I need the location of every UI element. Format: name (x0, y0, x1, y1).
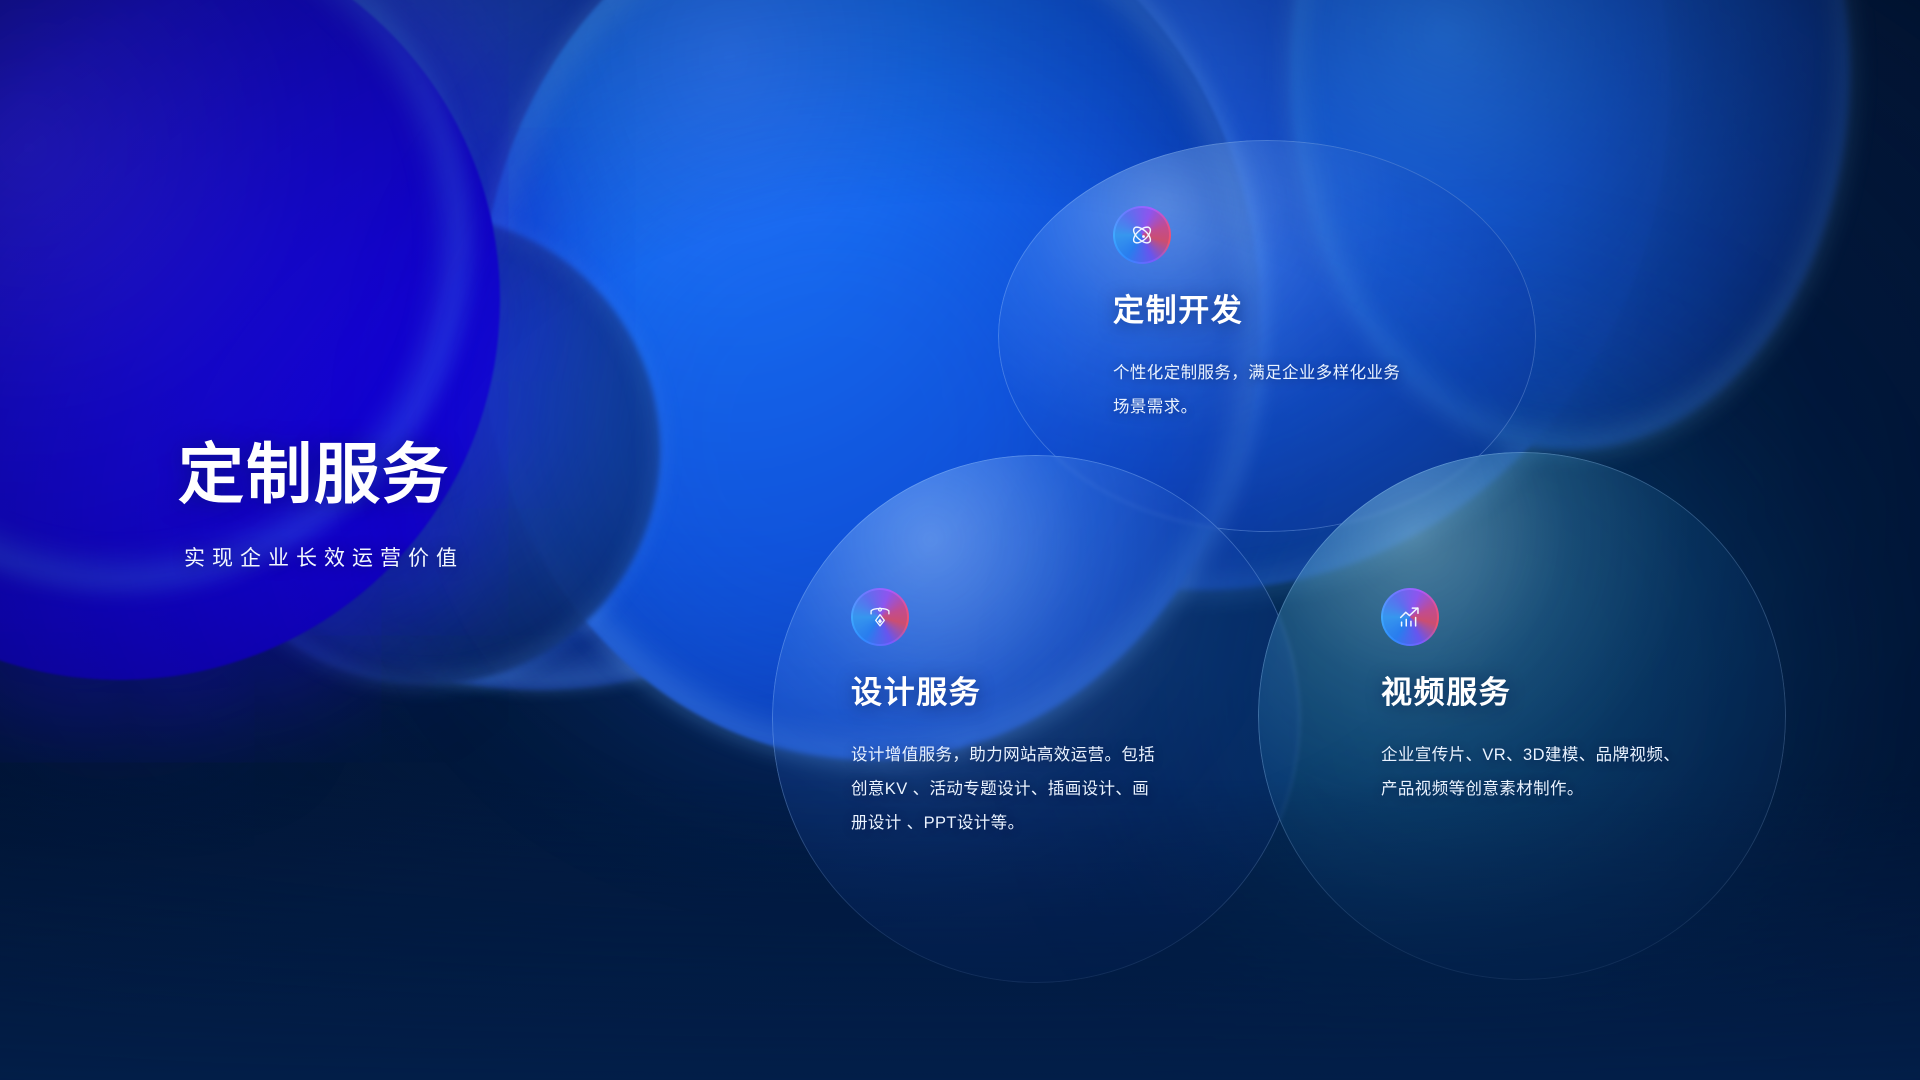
service-card-design-service[interactable]: 设计服务 设计增值服务，助力网站高效运营。包括创意KV 、活动专题设计、插画设计… (851, 588, 1171, 841)
page-subtitle: 实现企业长效运营价值 (184, 542, 738, 572)
card-title: 视频服务 (1381, 674, 1701, 711)
hero-text-block: 定制服务 实现企业长效运营价值 (178, 438, 738, 572)
card-description: 企业宣传片、VR、3D建模、品牌视频、产品视频等创意素材制作。 (1381, 739, 1681, 807)
hero-section: 定制服务 实现企业长效运营价值 定制开发 个性化定制服务，满足企业多样化业务场景… (0, 0, 1920, 1080)
growth-chart-icon (1381, 588, 1439, 646)
card-description: 个性化定制服务，满足企业多样化业务场景需求。 (1113, 357, 1413, 425)
card-title: 定制开发 (1113, 292, 1433, 329)
service-card-custom-development[interactable]: 定制开发 个性化定制服务，满足企业多样化业务场景需求。 (1113, 206, 1433, 425)
card-description: 设计增值服务，助力网站高效运营。包括创意KV 、活动专题设计、插画设计、画册设计… (851, 739, 1161, 840)
card-title: 设计服务 (851, 674, 1171, 711)
atom-orbit-icon (1113, 206, 1171, 264)
pen-nib-icon (851, 588, 909, 646)
service-card-video-service[interactable]: 视频服务 企业宣传片、VR、3D建模、品牌视频、产品视频等创意素材制作。 (1381, 588, 1701, 807)
page-title: 定制服务 (178, 438, 738, 512)
